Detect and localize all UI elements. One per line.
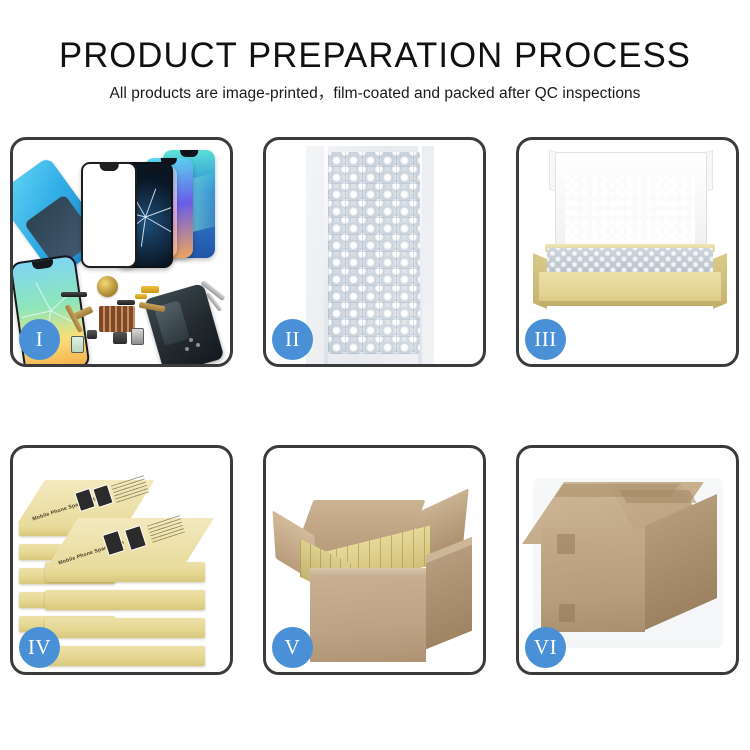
step-badge-6: VI: [525, 627, 566, 668]
carton-tape-strip-2-icon: [619, 490, 697, 503]
carton-front-icon: [310, 576, 426, 662]
screw-grid-icon: [99, 306, 135, 332]
step-badge-1: I: [19, 319, 60, 360]
screw-2-icon: [196, 343, 200, 347]
step-panel-3[interactable]: III: [516, 137, 739, 367]
tempered-glass-icon: [81, 162, 137, 268]
process-steps-grid: I II: [10, 137, 740, 737]
yellow-tab-2-icon: [135, 294, 147, 299]
step-panel-2[interactable]: II: [263, 137, 486, 367]
mailer-box-front-icon: [539, 272, 721, 306]
battery-part-icon: [131, 328, 144, 345]
screw-icon: [189, 338, 193, 342]
carton-side-icon: [426, 545, 472, 650]
screw-3-icon: [185, 347, 189, 351]
yellow-tab-icon: [141, 286, 159, 293]
speaker-part-icon: [97, 276, 118, 297]
earpiece-part-icon: [61, 292, 87, 297]
step-panel-5[interactable]: V: [263, 445, 486, 675]
step-panel-4[interactable]: Mobile Phone Spare Parts Mobile Phone Sp…: [10, 445, 233, 675]
stacked-box-fr-2: [45, 590, 205, 610]
carton-stamp-upper-icon: [557, 534, 575, 554]
small-bar-part-icon: [117, 300, 135, 305]
chip-part-icon: [87, 330, 97, 339]
stacked-box-fr-4: [45, 646, 205, 666]
page-title: PRODUCT PREPARATION PROCESS: [4, 36, 747, 76]
step-badge-4: IV: [19, 627, 60, 668]
stacked-box-fr-3: [45, 618, 205, 638]
page-header: PRODUCT PREPARATION PROCESS All products…: [0, 36, 750, 105]
battery-part-2-icon: [71, 336, 84, 353]
step-badge-5: V: [272, 627, 313, 668]
step-panel-6[interactable]: VI: [516, 445, 739, 675]
carton-stamp-lower-icon: [559, 604, 575, 622]
foam-sheet-icon: [565, 174, 695, 244]
step-badge-3: III: [525, 319, 566, 360]
step-badge-2: II: [272, 319, 313, 360]
phone-back-housing-icon: [143, 283, 224, 364]
product-preparation-page: PRODUCT PREPARATION PROCESS All products…: [0, 0, 750, 750]
page-subtitle: All products are image-printed，film-coat…: [0, 83, 750, 105]
camera-module-icon: [113, 332, 127, 344]
step-panel-1[interactable]: I: [10, 137, 233, 367]
bubble-wrap-pouch-icon: [328, 152, 420, 354]
